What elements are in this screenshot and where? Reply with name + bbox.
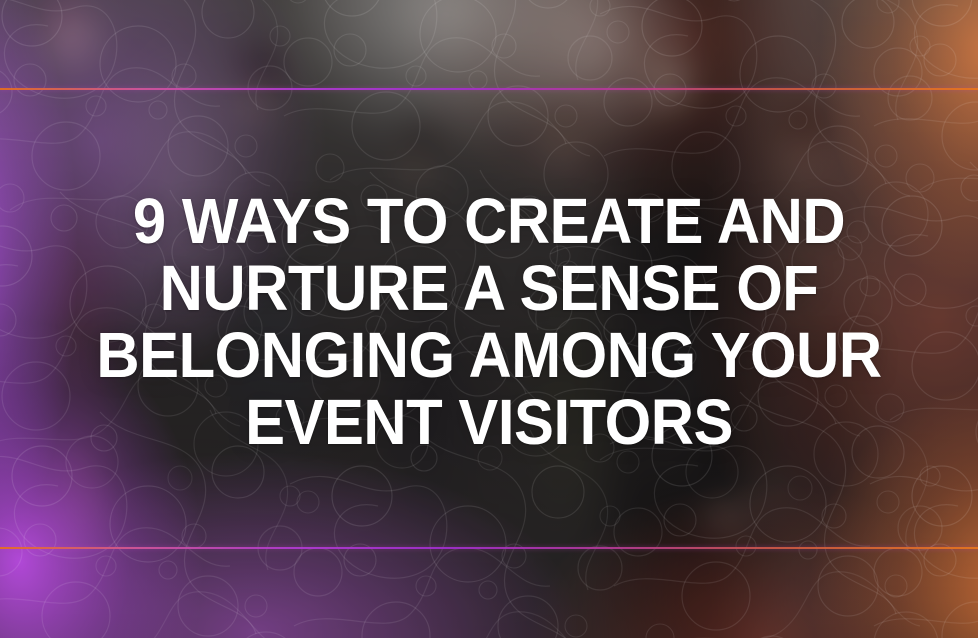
page-title: 9 WAYS TO CREATE AND NURTURE A SENSE OF … — [68, 188, 910, 456]
headline-container: 9 WAYS TO CREATE AND NURTURE A SENSE OF … — [0, 0, 978, 638]
hero-banner: 9 WAYS TO CREATE AND NURTURE A SENSE OF … — [0, 0, 978, 638]
